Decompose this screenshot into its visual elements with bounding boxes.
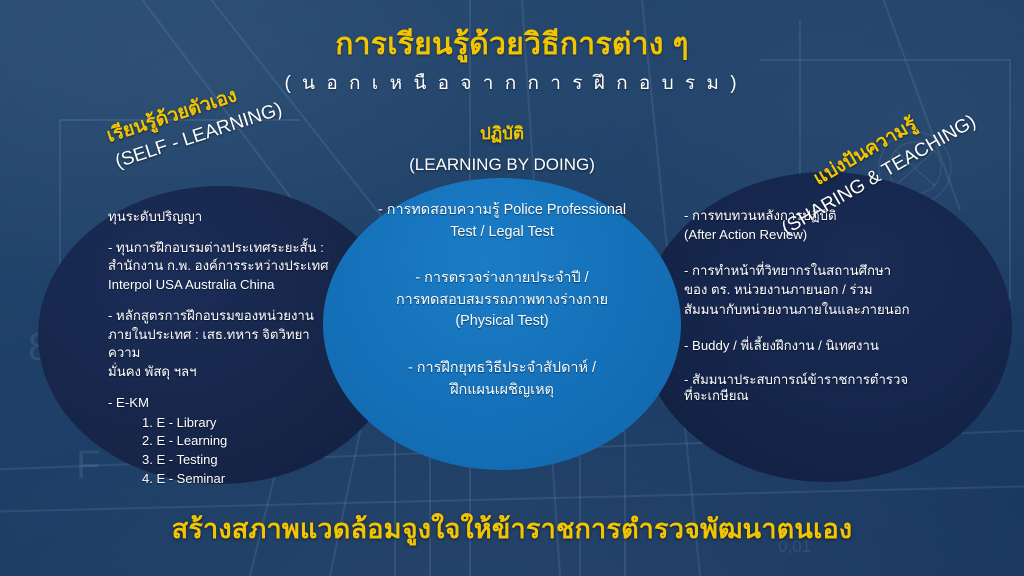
list-item: - ทุนการฝึกอบรมต่างประเทศระยะสั้น :สำนัก… — [108, 239, 340, 295]
footer-banner: สร้างสภาพแวดล้อมจูงใจให้ข้าราชการตำรวจพั… — [0, 507, 1024, 550]
list-item: 4. E - Seminar — [142, 470, 340, 489]
list-item: - หลักสูตรการฝึกอบรมของหน่วยงานภายในประเ… — [108, 307, 340, 382]
list-item: 1. E - Library — [142, 414, 340, 433]
list-item: - สัมมนาประสบการณ์ข้าราชการตำรวจที่จะเกษ… — [684, 372, 952, 405]
list-item-ekm-label: - E-KM — [108, 394, 340, 413]
content-learning-by-doing: - การทดสอบความรู้ Police ProfessionalTes… — [340, 200, 664, 401]
list-item: 3. E - Testing — [142, 451, 340, 470]
list-item: - การทดสอบความรู้ Police ProfessionalTes… — [340, 200, 664, 243]
list-item: 2. E - Learning — [142, 432, 340, 451]
slide-canvas: 8 F 0,01 การเรียนรู้ด้วยวิธีการต่าง ๆ ( … — [0, 0, 1024, 576]
heading-learning-by-doing-thai: ปฏิบัติ — [323, 120, 681, 147]
content-sharing-teaching: - การทบทวนหลังการปฏิบัติ(After Action Re… — [684, 206, 952, 405]
ekm-sublist: 1. E - Library 2. E - Learning 3. E - Te… — [142, 414, 340, 489]
list-item: - การตรวจร่างกายประจำปี /การทดสอบสมรรถภา… — [340, 268, 664, 333]
list-item: - การฝึกยุทธวิธีประจำสัปดาห์ /ฝึกแผนเผชิ… — [340, 358, 664, 401]
heading-learning-by-doing: ปฏิบัติ (LEARNING BY DOING) — [323, 120, 681, 175]
list-item: ทุนระดับปริญญา — [108, 208, 340, 227]
heading-learning-by-doing-english: (LEARNING BY DOING) — [323, 155, 681, 175]
content-self-learning: ทุนระดับปริญญา - ทุนการฝึกอบรมต่างประเทศ… — [108, 208, 340, 489]
page-title: การเรียนรู้ด้วยวิธีการต่าง ๆ — [0, 28, 1024, 61]
title-block: การเรียนรู้ด้วยวิธีการต่าง ๆ ( น อ ก เ ห… — [0, 28, 1024, 98]
list-item: - Buddy / พี่เลี้ยงฝึกงาน / นิเทศงาน — [684, 336, 952, 355]
list-item: - การทำหน้าที่วิทยากรในสถานศึกษาของ ตร. … — [684, 261, 952, 318]
page-subtitle: ( น อ ก เ ห นื อ จ า ก ก า ร ฝึ ก อ บ ร … — [0, 68, 1024, 98]
svg-text:F: F — [76, 443, 100, 487]
list-item-ekm: - E-KM 1. E - Library 2. E - Learning 3.… — [108, 394, 340, 489]
